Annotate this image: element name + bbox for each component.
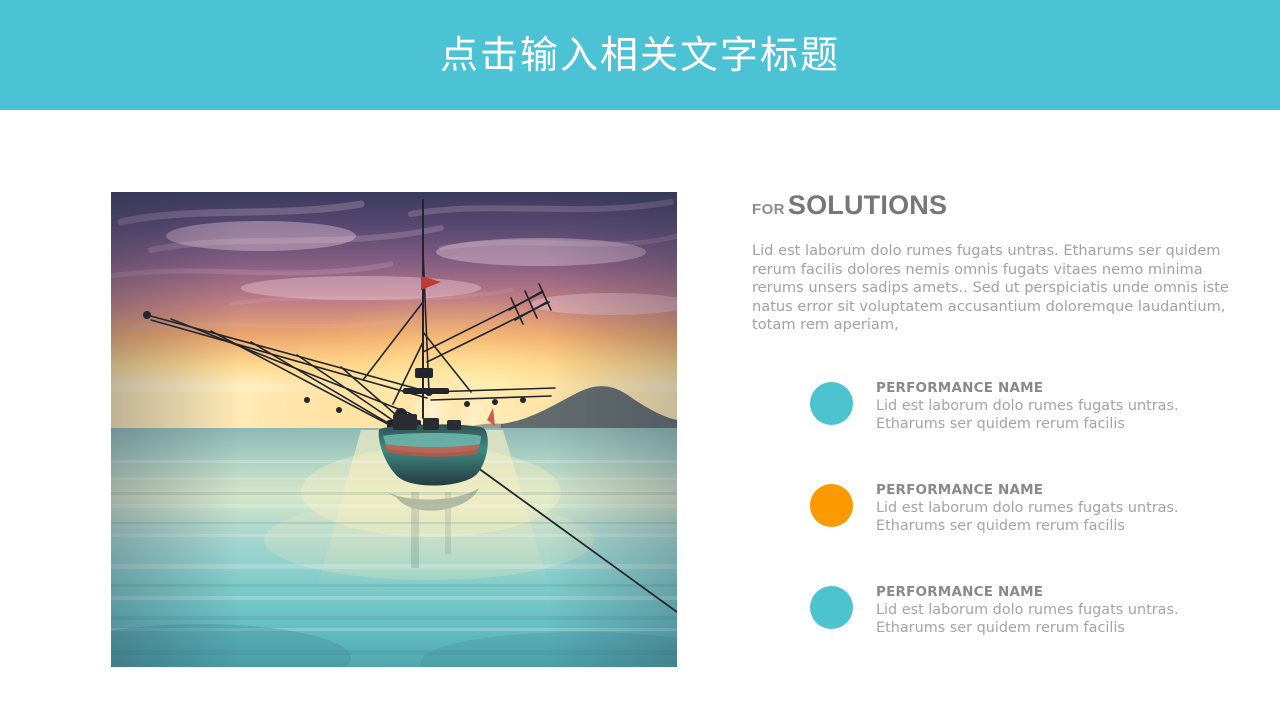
list-item-text: PERFORMANCE NAME Lid est laborum dolo ru… [876,584,1179,638]
list-item-text: PERFORMANCE NAME Lid est laborum dolo ru… [876,482,1179,536]
section-heading-main: SOLUTIONS [788,190,947,220]
section-heading-prefix: FOR [752,201,785,218]
content-column: FORSOLUTIONS Lid est laborum dolo rumes … [752,192,1234,335]
section-heading: FORSOLUTIONS [752,192,1234,219]
performance-name: PERFORMANCE NAME [876,482,1179,498]
list-item[interactable]: PERFORMANCE NAME Lid est laborum dolo ru… [810,482,1280,536]
list-item[interactable]: PERFORMANCE NAME Lid est laborum dolo ru… [810,584,1280,638]
performance-name: PERFORMANCE NAME [876,584,1179,600]
performance-description: Lid est laborum dolo rumes fugats untras… [876,397,1179,434]
slide-header-bar: 点击输入相关文字标题 [0,0,1280,110]
page-title: 点击输入相关文字标题 [440,36,840,74]
bullet-dot-icon [810,484,853,527]
performance-description: Lid est laborum dolo rumes fugats untras… [876,601,1179,638]
list-item[interactable]: PERFORMANCE NAME Lid est laborum dolo ru… [810,380,1280,434]
performance-list: PERFORMANCE NAME Lid est laborum dolo ru… [810,380,1280,637]
performance-description: Lid est laborum dolo rumes fugats untras… [876,499,1179,536]
performance-name: PERFORMANCE NAME [876,380,1179,396]
sunset-sailboat-photo-graphic [111,192,677,667]
bullet-dot-icon [810,586,853,629]
sunset-sailboat-photo [111,192,677,667]
bullet-dot-icon [810,382,853,425]
intro-paragraph: Lid est laborum dolo rumes fugats untras… [752,242,1232,335]
list-item-text: PERFORMANCE NAME Lid est laborum dolo ru… [876,380,1179,434]
